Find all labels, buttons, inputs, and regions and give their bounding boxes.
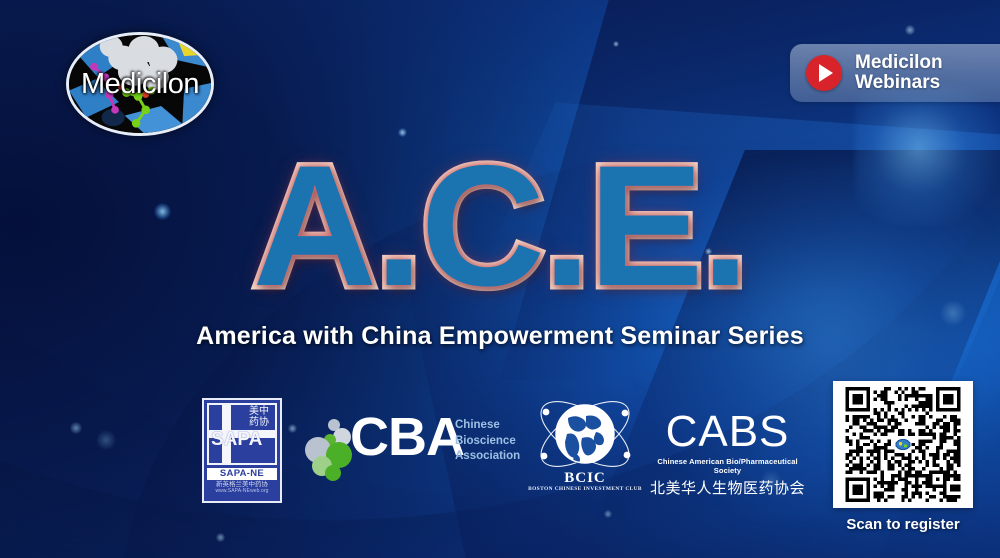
cba-tagline-line3: Association <box>455 449 520 465</box>
sponsor-logo-row: 美中 药协 SAPA SAPA-NE 新英格兰美中药协 www.SAPA-NEw… <box>190 392 810 512</box>
medicilon-logo-label: Medicilon <box>81 68 199 101</box>
qr-label: Scan to register <box>833 516 973 533</box>
sapa-chinese-line1: 美中 <box>246 406 272 417</box>
sapa-chapter: SAPA-NE <box>207 468 277 480</box>
webinar-banner: Medicilon Medicilon Webinars A.C.E. Amer… <box>0 0 1000 558</box>
webinar-badge-line1: Medicilon <box>855 52 943 73</box>
cba-tagline-line1: Chinese <box>455 418 520 434</box>
sponsor-logo-sapa[interactable]: 美中 药协 SAPA SAPA-NE 新英格兰美中药协 www.SAPA-NEw… <box>202 398 282 503</box>
qr-card[interactable] <box>833 381 973 508</box>
webinar-badge-line2: Webinars <box>855 72 940 93</box>
medicilon-webinars-badge[interactable]: Medicilon Webinars <box>790 44 1000 102</box>
sapa-chinese-line2: 药协 <box>246 417 272 428</box>
cabs-tagline: Chinese American Bio/Pharmaceutical Soci… <box>645 457 810 475</box>
cba-acronym: CBA <box>350 410 464 464</box>
headline-block: A.C.E. <box>0 140 1000 312</box>
cabs-chinese: 北美华人生物医药协会 <box>645 477 810 498</box>
sponsor-logo-cba[interactable]: CBA Chinese Bioscience Association <box>300 414 510 486</box>
cba-tagline: Chinese Bioscience Association <box>455 418 520 465</box>
bcic-acronym: BCIC <box>530 470 640 487</box>
sponsor-logo-bcic[interactable]: BCIC BOSTON CHINESE INVESTMENT CLUB <box>530 394 640 506</box>
qr-code-icon[interactable] <box>839 387 967 502</box>
sapa-url: www.SAPA-NEweb.org <box>207 488 277 495</box>
sapa-chinese-sub: 新英格兰美中药协 <box>207 480 277 488</box>
webinar-badge-label: Medicilon Webinars <box>855 53 943 94</box>
qr-register-block[interactable]: Scan to register <box>833 381 973 549</box>
sponsor-logo-cabs[interactable]: CABS Chinese American Bio/Pharmaceutical… <box>645 410 810 490</box>
sapa-acronym: SAPA <box>211 429 262 451</box>
cba-tagline-line2: Bioscience <box>455 434 520 450</box>
bcic-tagline: BOSTON CHINESE INVESTMENT CLUB <box>522 486 648 492</box>
ace-subtitle: America with China Empowerment Seminar S… <box>0 322 1000 351</box>
play-icon[interactable] <box>806 55 842 91</box>
sapa-chinese-top: 美中 药协 <box>246 406 272 428</box>
cba-dots-icon <box>300 418 356 482</box>
ace-title: A.C.E. <box>253 140 748 312</box>
medicilon-logo[interactable]: Medicilon <box>66 32 214 136</box>
cabs-acronym: CABS <box>645 410 810 454</box>
sapa-emblem: 美中 药协 SAPA <box>207 403 277 465</box>
